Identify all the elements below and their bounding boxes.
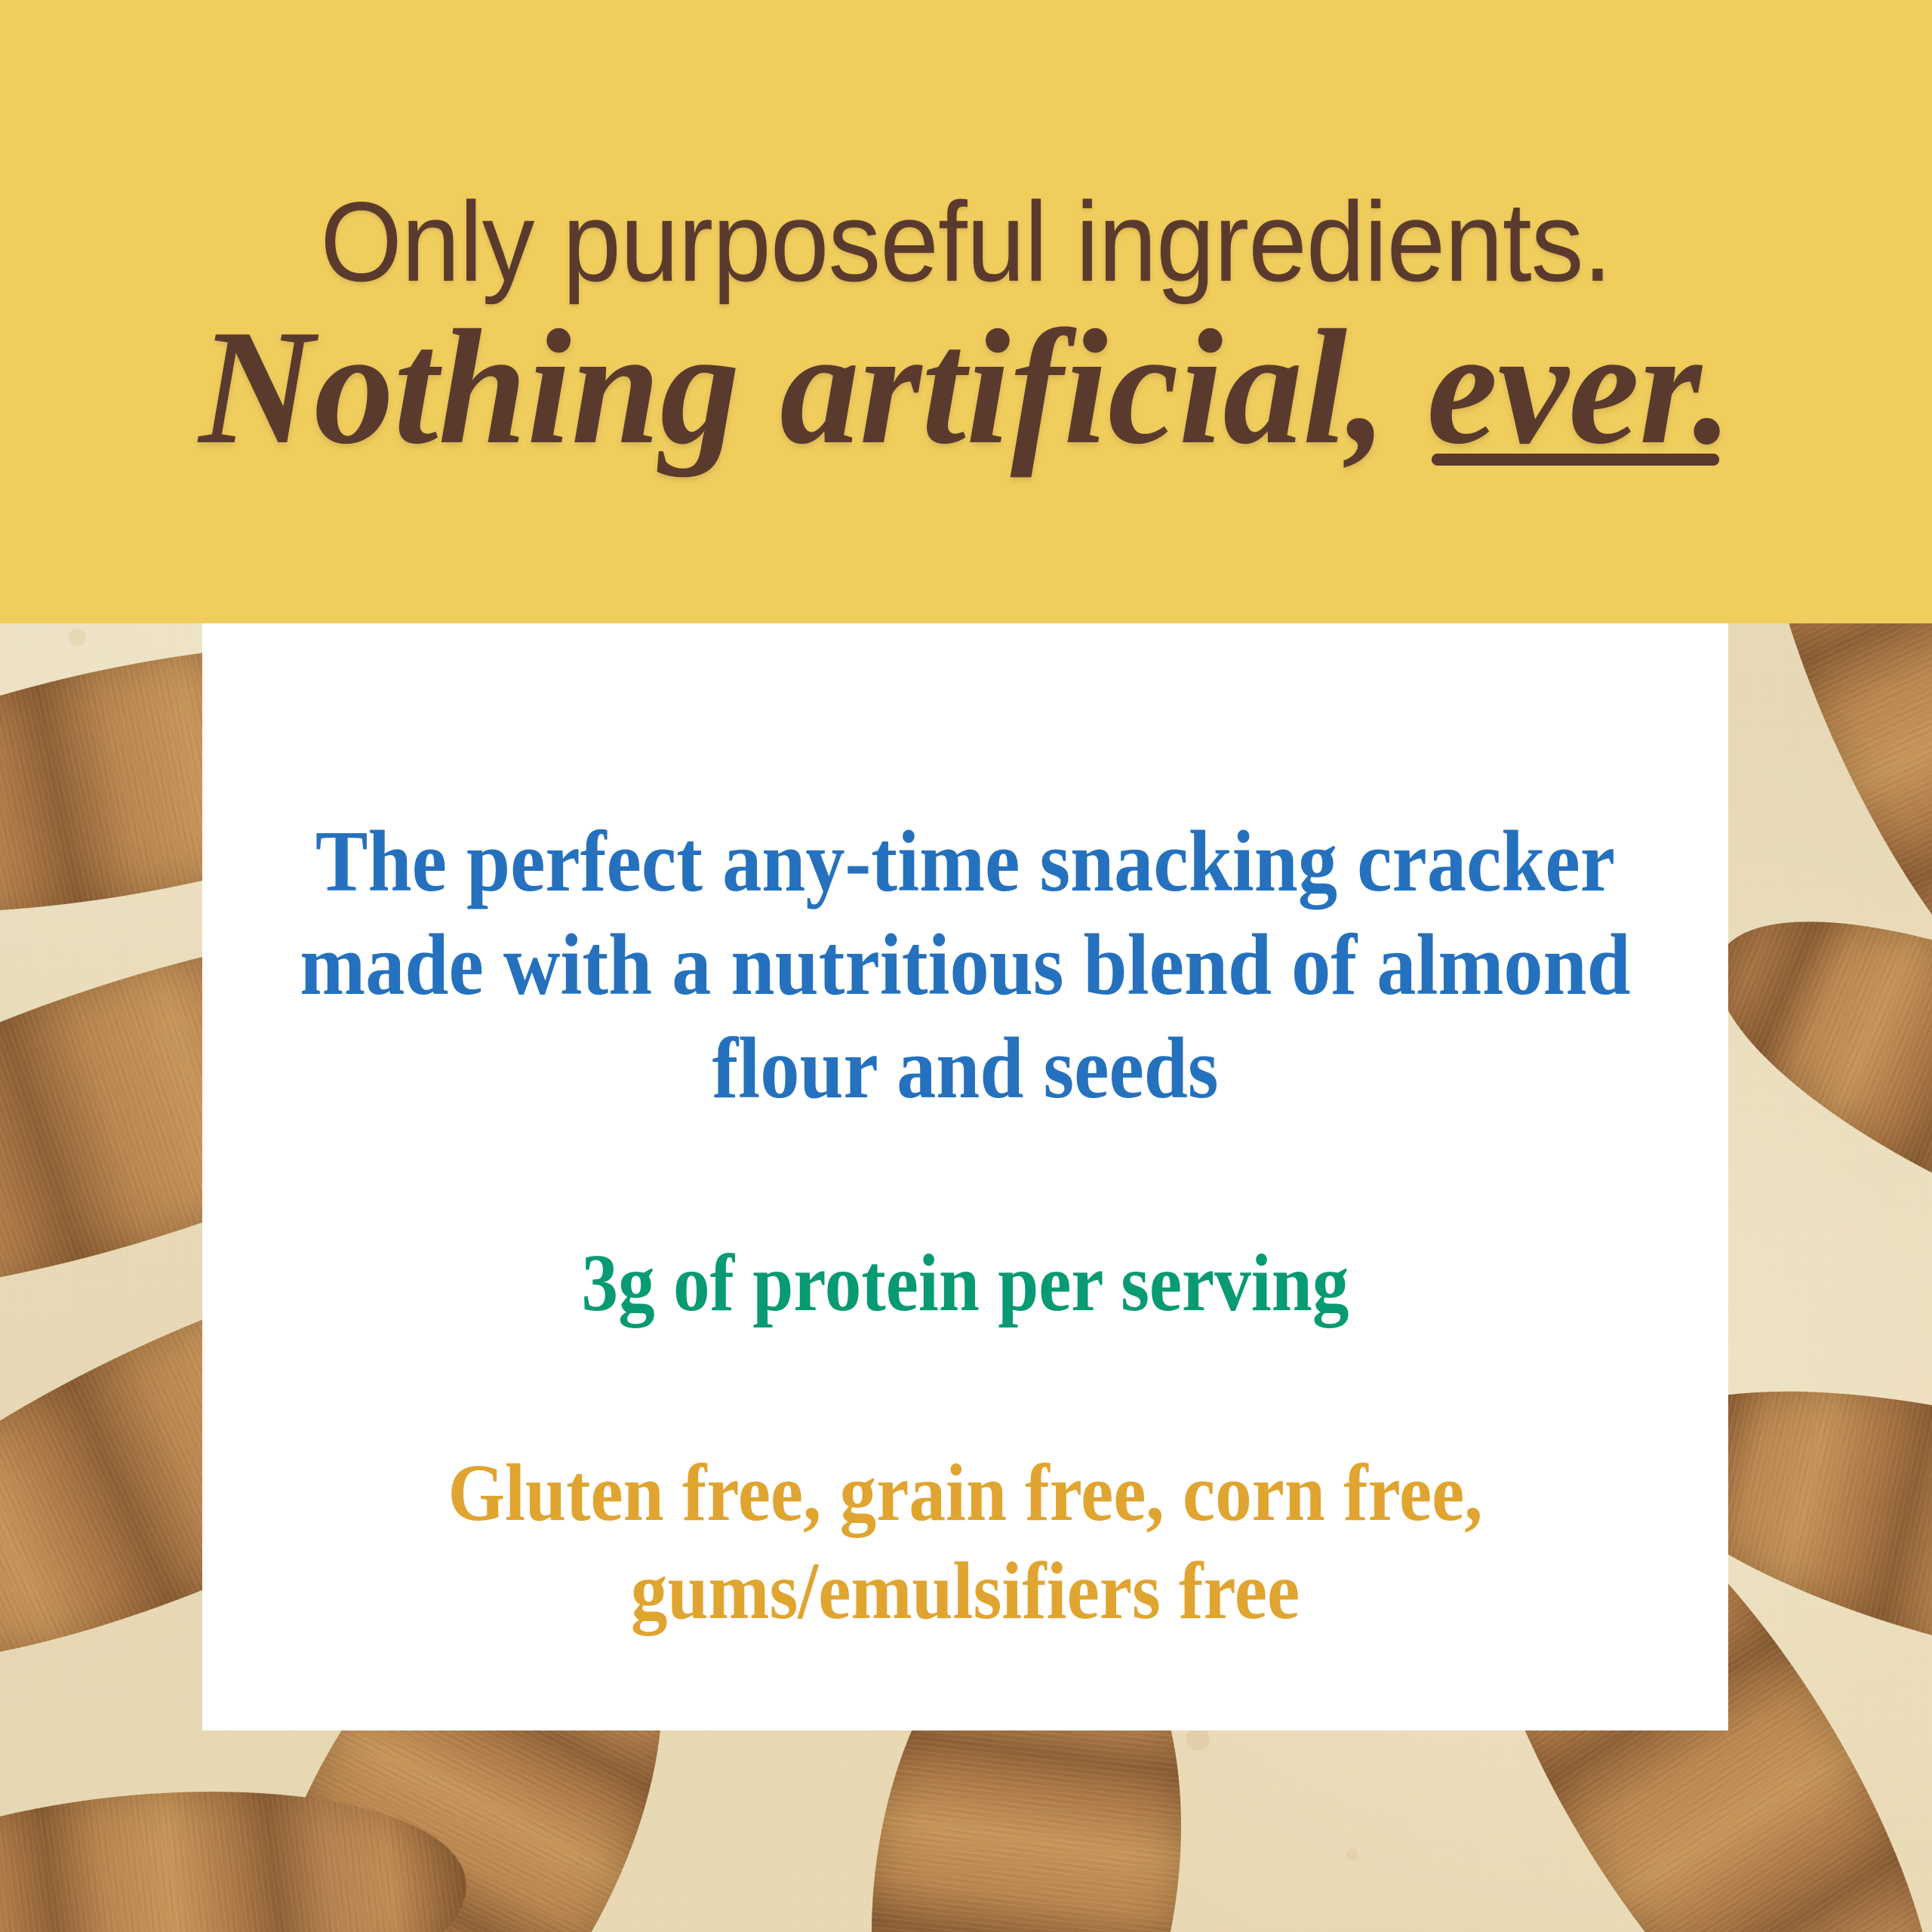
claim-description: The perfect any-time snacking cracker ma… xyxy=(278,811,1652,1121)
headline-line-2-text: Nothing artificial, xyxy=(199,297,1427,478)
headline-emphasis-label: ever. xyxy=(1427,297,1733,478)
headline-line-2: Nothing artificial, ever. xyxy=(199,306,1733,470)
claims-card: The perfect any-time snacking cracker ma… xyxy=(202,623,1728,1730)
hand-drawn-underline xyxy=(1432,454,1720,466)
product-claims-graphic: Only purposeful ingredients. Nothing art… xyxy=(0,0,1932,1932)
claims-list: The perfect any-time snacking cracker ma… xyxy=(202,811,1728,1640)
headline-emphasis-ever: ever. xyxy=(1427,306,1733,470)
headline-block: Only purposeful ingredients. Nothing art… xyxy=(0,0,1932,623)
headline-line-1: Only purposeful ingredients. xyxy=(321,184,1612,300)
claim-free-from: Gluten free, grain free, corn free, gums… xyxy=(278,1444,1652,1640)
claim-protein: 3g of protein per serving xyxy=(278,1235,1652,1331)
